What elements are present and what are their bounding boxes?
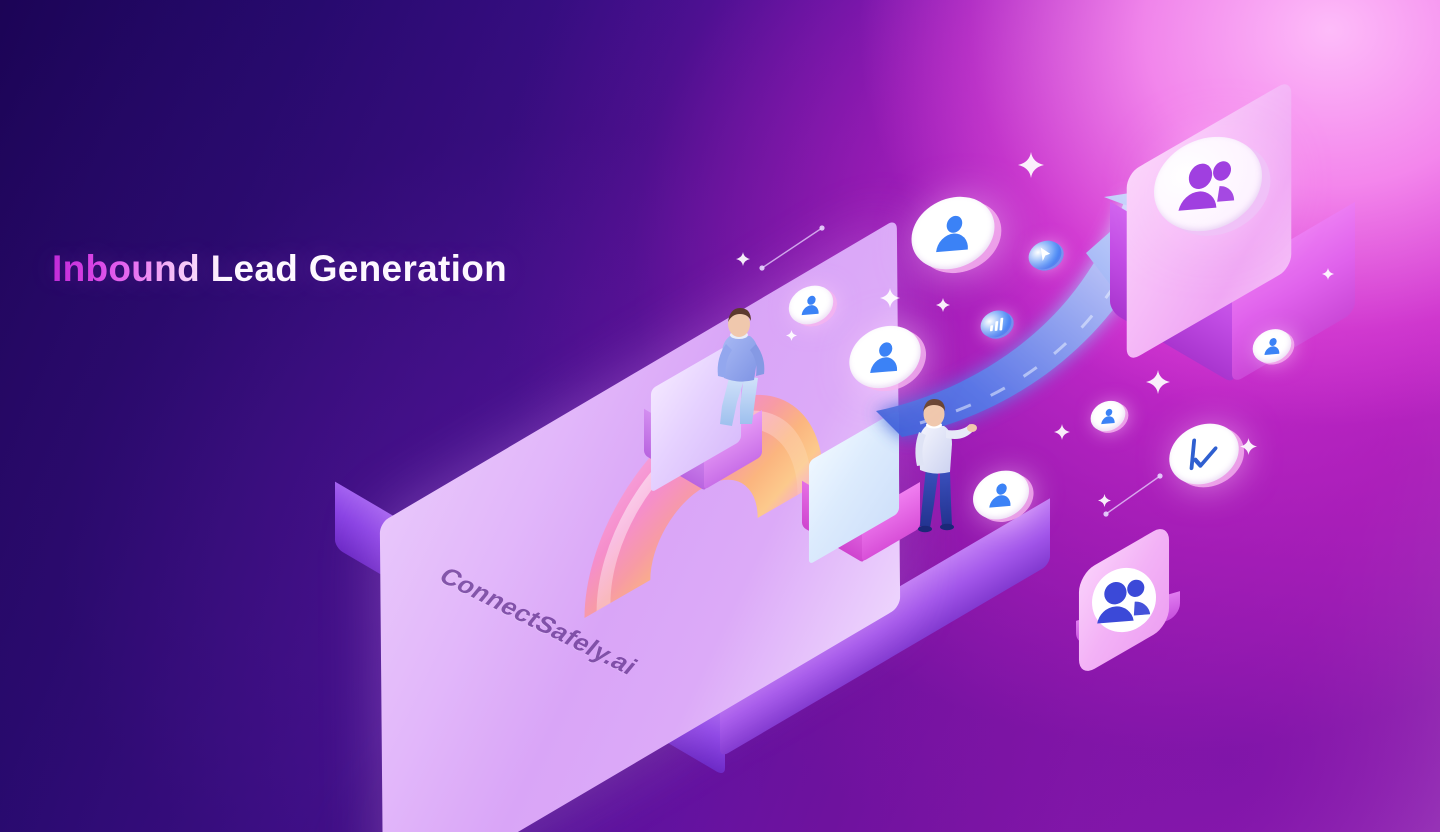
badge-disc-person-icon <box>788 282 834 328</box>
badge-disc-person-icon <box>848 320 922 394</box>
sparkle-icon <box>1054 424 1070 440</box>
badge-disc-bar-chart-icon <box>980 308 1012 340</box>
standing-person <box>902 396 982 536</box>
sparkle-icon <box>786 330 797 341</box>
sparkle-icon <box>880 288 900 308</box>
person-icon <box>782 278 839 331</box>
person-icon <box>899 183 1006 283</box>
badge-disc-cursor-icon <box>1028 238 1062 272</box>
person-icon <box>1247 323 1297 369</box>
chart-check-icon <box>1159 412 1249 495</box>
badge-disc-person-icon <box>910 190 996 276</box>
person-icon <box>1086 395 1131 437</box>
badge-disc-person-icon <box>972 466 1030 524</box>
badge-disc-person-icon <box>1090 398 1126 434</box>
bar-chart-icon <box>976 305 1016 342</box>
sparkle-icon <box>736 252 750 266</box>
sparkle-icon <box>1240 438 1257 455</box>
cursor-icon <box>1024 235 1066 274</box>
sparkle-icon <box>1146 370 1170 394</box>
sparkle-icon <box>936 298 950 312</box>
person-icon <box>965 461 1037 528</box>
sparkle-icon <box>1322 268 1334 280</box>
badge-disc-group-icon <box>1152 128 1264 240</box>
illustration-canvas: Inbound Lead Generation ConnectSafely.ai <box>0 0 1440 832</box>
badge-disc-chart-check-icon <box>1168 418 1240 490</box>
seated-person <box>700 302 790 432</box>
badge-disc-person-icon <box>1252 326 1292 366</box>
badge-tile-group-icon <box>1072 548 1176 652</box>
page-title: Inbound Lead Generation <box>52 248 507 290</box>
person-icon <box>839 314 931 400</box>
tile-top <box>1079 522 1169 678</box>
connector-line <box>760 222 830 270</box>
group-icon <box>1092 565 1156 634</box>
sparkle-icon <box>1018 152 1044 178</box>
connector-line <box>1104 470 1168 516</box>
group-icon <box>1138 119 1278 249</box>
